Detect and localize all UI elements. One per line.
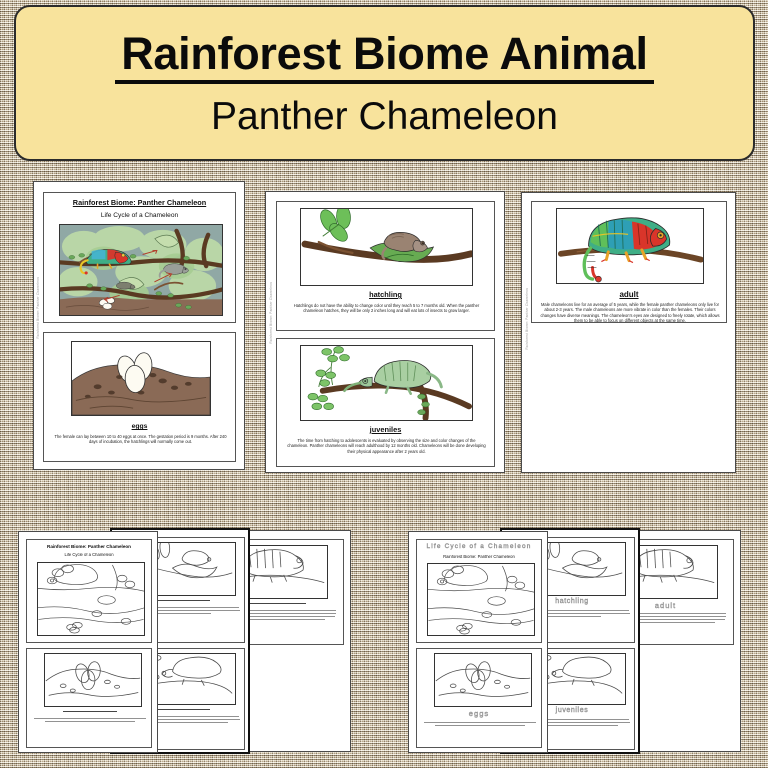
- bl-eggs-text: [33, 718, 147, 724]
- bl-hatchling-label-line: [156, 600, 210, 601]
- adult-text: Male chameleons live for an average of 5…: [540, 302, 720, 323]
- br-eggs-outline: [434, 653, 532, 707]
- hatchling-label: hatchling: [277, 291, 494, 300]
- bl-juveniles-label-line: [156, 709, 210, 710]
- card1-page-top: Rainforest Biome: Panther Chameleon Life…: [43, 192, 236, 323]
- bl-sheet1-top-page: Rainforest Biome: Panther Chameleon Life…: [26, 539, 152, 643]
- card3-watermark: Rainforest Biome: Panther Chameleon: [525, 288, 529, 350]
- bl-adult-label-line: [250, 603, 306, 604]
- bl-eggs-label-line: [63, 711, 117, 712]
- adult-illustration: [556, 208, 704, 284]
- card2-page-hatchling: hatchling Hatchlings do not have the abi…: [276, 201, 495, 331]
- br-eggs-label: eggs: [417, 709, 541, 718]
- banner-subtitle: Panther Chameleon: [211, 97, 558, 136]
- bl-sheet1-eggs-page: [26, 648, 152, 748]
- br-scene-outline: [427, 563, 535, 636]
- bl-sheet1-title: Rainforest Biome: Panther Chameleon: [27, 544, 151, 549]
- eggs-label: eggs: [44, 423, 235, 431]
- eggs-text: The female can lay between 10 to 40 eggs…: [53, 434, 228, 445]
- bl-sheet1-subtitle: Life Cycle of a Chameleon: [27, 553, 151, 558]
- juveniles-text: The time from hatching to adolescents is…: [287, 438, 486, 454]
- bl-sheet-1[interactable]: Rainforest Biome: Panther Chameleon Life…: [18, 531, 158, 753]
- eggs-illustration: [71, 341, 211, 416]
- rainforest-scene-illustration: [59, 224, 223, 316]
- adult-label: adult: [532, 290, 726, 299]
- juveniles-label: juveniles: [277, 426, 494, 435]
- br-eggs-text: [423, 722, 537, 728]
- preview-card-3[interactable]: adult Male chameleons live for an averag…: [521, 192, 736, 473]
- br-sheet1-subtitle: Rainforest Biome: Panther Chameleon: [417, 555, 541, 560]
- card2-page-juveniles: juveniles The time from hatching to adol…: [276, 338, 495, 467]
- banner-title: Rainforest Biome Animal: [115, 30, 654, 84]
- preview-card-2[interactable]: hatchling Hatchlings do not have the abi…: [265, 191, 505, 473]
- bl-scene-outline: [37, 562, 145, 636]
- juveniles-illustration: [300, 345, 473, 421]
- card1-title: Rainforest Biome: Panther Chameleon: [44, 199, 235, 208]
- br-sheet1-title: Life Cycle of a Chameleon: [417, 543, 541, 550]
- card1-watermark: Rainforest Biome: Panther Chameleon: [36, 277, 40, 339]
- card2-watermark: Rainforest Biome: Panther Chameleon: [269, 282, 273, 344]
- card1-subtitle: Life Cycle of a Chameleon: [44, 212, 235, 220]
- hatchling-text: Hatchlings do not have the ability to ch…: [287, 303, 486, 314]
- br-sheet1-eggs-page: eggs: [416, 648, 542, 748]
- card3-page-adult: adult Male chameleons live for an averag…: [531, 201, 727, 323]
- title-banner: Rainforest Biome Animal Panther Chameleo…: [14, 5, 755, 161]
- bl-eggs-outline: [44, 653, 142, 707]
- br-sheet1-top-page: Life Cycle of a Chameleon Rainforest Bio…: [416, 539, 542, 643]
- card1-page-eggs: eggs The female can lay between 10 to 40…: [43, 332, 236, 462]
- br-sheet-1[interactable]: Life Cycle of a Chameleon Rainforest Bio…: [408, 531, 548, 753]
- hatchling-illustration: [300, 208, 473, 286]
- preview-card-1[interactable]: Rainforest Biome: Panther Chameleon Life…: [33, 181, 245, 470]
